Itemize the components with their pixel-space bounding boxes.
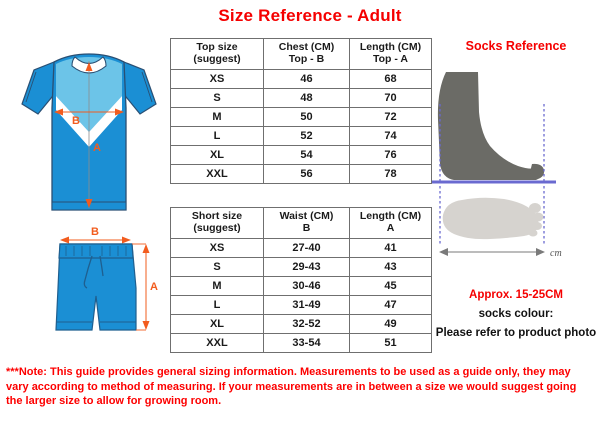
footprint-toe-3 [532, 222, 542, 230]
cell-length: 74 [350, 127, 432, 146]
table-row: XS 27-40 41 [171, 239, 432, 258]
socks-refer-note: Please refer to product photo [432, 327, 600, 339]
header-top-size: Top size (suggest) [171, 39, 264, 70]
cell-chest: 48 [264, 89, 350, 108]
cell-size: M [171, 108, 264, 127]
cell-chest: 46 [264, 70, 350, 89]
table-row: S 29-43 43 [171, 258, 432, 277]
cell-size: XL [171, 315, 264, 334]
header-short-length: Length (CM) A [350, 208, 432, 239]
cell-waist: 27-40 [264, 239, 350, 258]
socks-reference-panel: Socks Reference cm [432, 34, 600, 364]
jersey-chest-label: B [72, 115, 80, 127]
header-chest: Chest (CM) Top - B [264, 39, 350, 70]
jersey-right-sleeve [122, 62, 156, 114]
table-row: XXL 33-54 51 [171, 334, 432, 353]
table-header-row: Top size (suggest) Chest (CM) Top - B Le… [171, 39, 432, 70]
socks-reference-title: Socks Reference [432, 39, 600, 53]
sock-diagram-svg: cm [432, 60, 600, 270]
cell-waist: 29-43 [264, 258, 350, 277]
cell-waist: 33-54 [264, 334, 350, 353]
socks-colour-label: socks colour: [432, 308, 600, 320]
table-row: L 52 74 [171, 127, 432, 146]
footprint-toe-1 [529, 203, 541, 213]
footprint-unit-label: cm [550, 248, 562, 259]
footprint-measure-arrow-right [536, 248, 545, 256]
shorts-length-label: A [150, 281, 158, 293]
shorts-waist-arrow-left [60, 237, 69, 244]
table-row: S 48 70 [171, 89, 432, 108]
cell-size: XS [171, 70, 264, 89]
table-row: M 50 72 [171, 108, 432, 127]
cell-waist: 30-46 [264, 277, 350, 296]
jersey-length-label: A [93, 142, 101, 154]
cell-length: 47 [350, 296, 432, 315]
socks-note: Approx. 15-25CM socks colour: Please ref… [432, 289, 600, 346]
table-header-row: Short size (suggest) Waist (CM) B Length… [171, 208, 432, 239]
cell-chest: 52 [264, 127, 350, 146]
cell-size: L [171, 296, 264, 315]
sock-diagram: cm [432, 60, 600, 270]
cell-length: 45 [350, 277, 432, 296]
cell-length: 72 [350, 108, 432, 127]
footer-note: ***Note: This guide provides general siz… [6, 365, 594, 409]
cell-length: 68 [350, 70, 432, 89]
cell-waist: 31-49 [264, 296, 350, 315]
shorts-waistband [59, 244, 133, 258]
footprint-measure-arrow-left [439, 248, 448, 256]
page-title: Size Reference - Adult [185, 6, 435, 26]
shorts-waist-label: B [91, 226, 99, 238]
table-row: XL 32-52 49 [171, 315, 432, 334]
cell-length: 70 [350, 89, 432, 108]
cell-chest: 56 [264, 165, 350, 184]
jersey-left-sleeve [22, 62, 56, 114]
shorts-waist-arrow-right [122, 237, 131, 244]
shorts-length-arrow-top [143, 244, 150, 253]
shorts-svg: B [40, 222, 160, 357]
cell-length: 43 [350, 258, 432, 277]
jersey-svg: B A [14, 48, 164, 213]
cell-chest: 54 [264, 146, 350, 165]
cell-size: S [171, 258, 264, 277]
sock-side-silhouette [438, 72, 543, 180]
footprint-toe-4 [529, 230, 538, 237]
cell-length: 78 [350, 165, 432, 184]
shorts-illustration: B [40, 222, 160, 357]
cell-length: 51 [350, 334, 432, 353]
cell-length: 76 [350, 146, 432, 165]
cell-size: L [171, 127, 264, 146]
table-row: M 30-46 45 [171, 277, 432, 296]
top-size-table: Top size (suggest) Chest (CM) Top - B Le… [170, 38, 432, 184]
jersey-illustration: B A [14, 48, 164, 213]
cell-size: XXL [171, 334, 264, 353]
footprint-toe-2 [533, 213, 544, 222]
table-row: XS 46 68 [171, 70, 432, 89]
cell-length: 49 [350, 315, 432, 334]
table-row: XXL 56 78 [171, 165, 432, 184]
cell-size: XXL [171, 165, 264, 184]
cell-size: XS [171, 239, 264, 258]
short-size-table: Short size (suggest) Waist (CM) B Length… [170, 207, 432, 353]
cell-size: M [171, 277, 264, 296]
garment-illustration-column: B A B [0, 34, 168, 364]
header-waist: Waist (CM) B [264, 208, 350, 239]
shorts-length-arrow-bottom [143, 321, 150, 330]
header-short-size: Short size (suggest) [171, 208, 264, 239]
cell-chest: 50 [264, 108, 350, 127]
table-row: L 31-49 47 [171, 296, 432, 315]
cell-size: XL [171, 146, 264, 165]
footprint-main [443, 198, 539, 239]
header-top-length: Length (CM) Top - A [350, 39, 432, 70]
table-row: XL 54 76 [171, 146, 432, 165]
cell-waist: 32-52 [264, 315, 350, 334]
cell-length: 41 [350, 239, 432, 258]
sock-toe [530, 164, 544, 179]
socks-approx-length: Approx. 15-25CM [432, 289, 600, 301]
cell-size: S [171, 89, 264, 108]
